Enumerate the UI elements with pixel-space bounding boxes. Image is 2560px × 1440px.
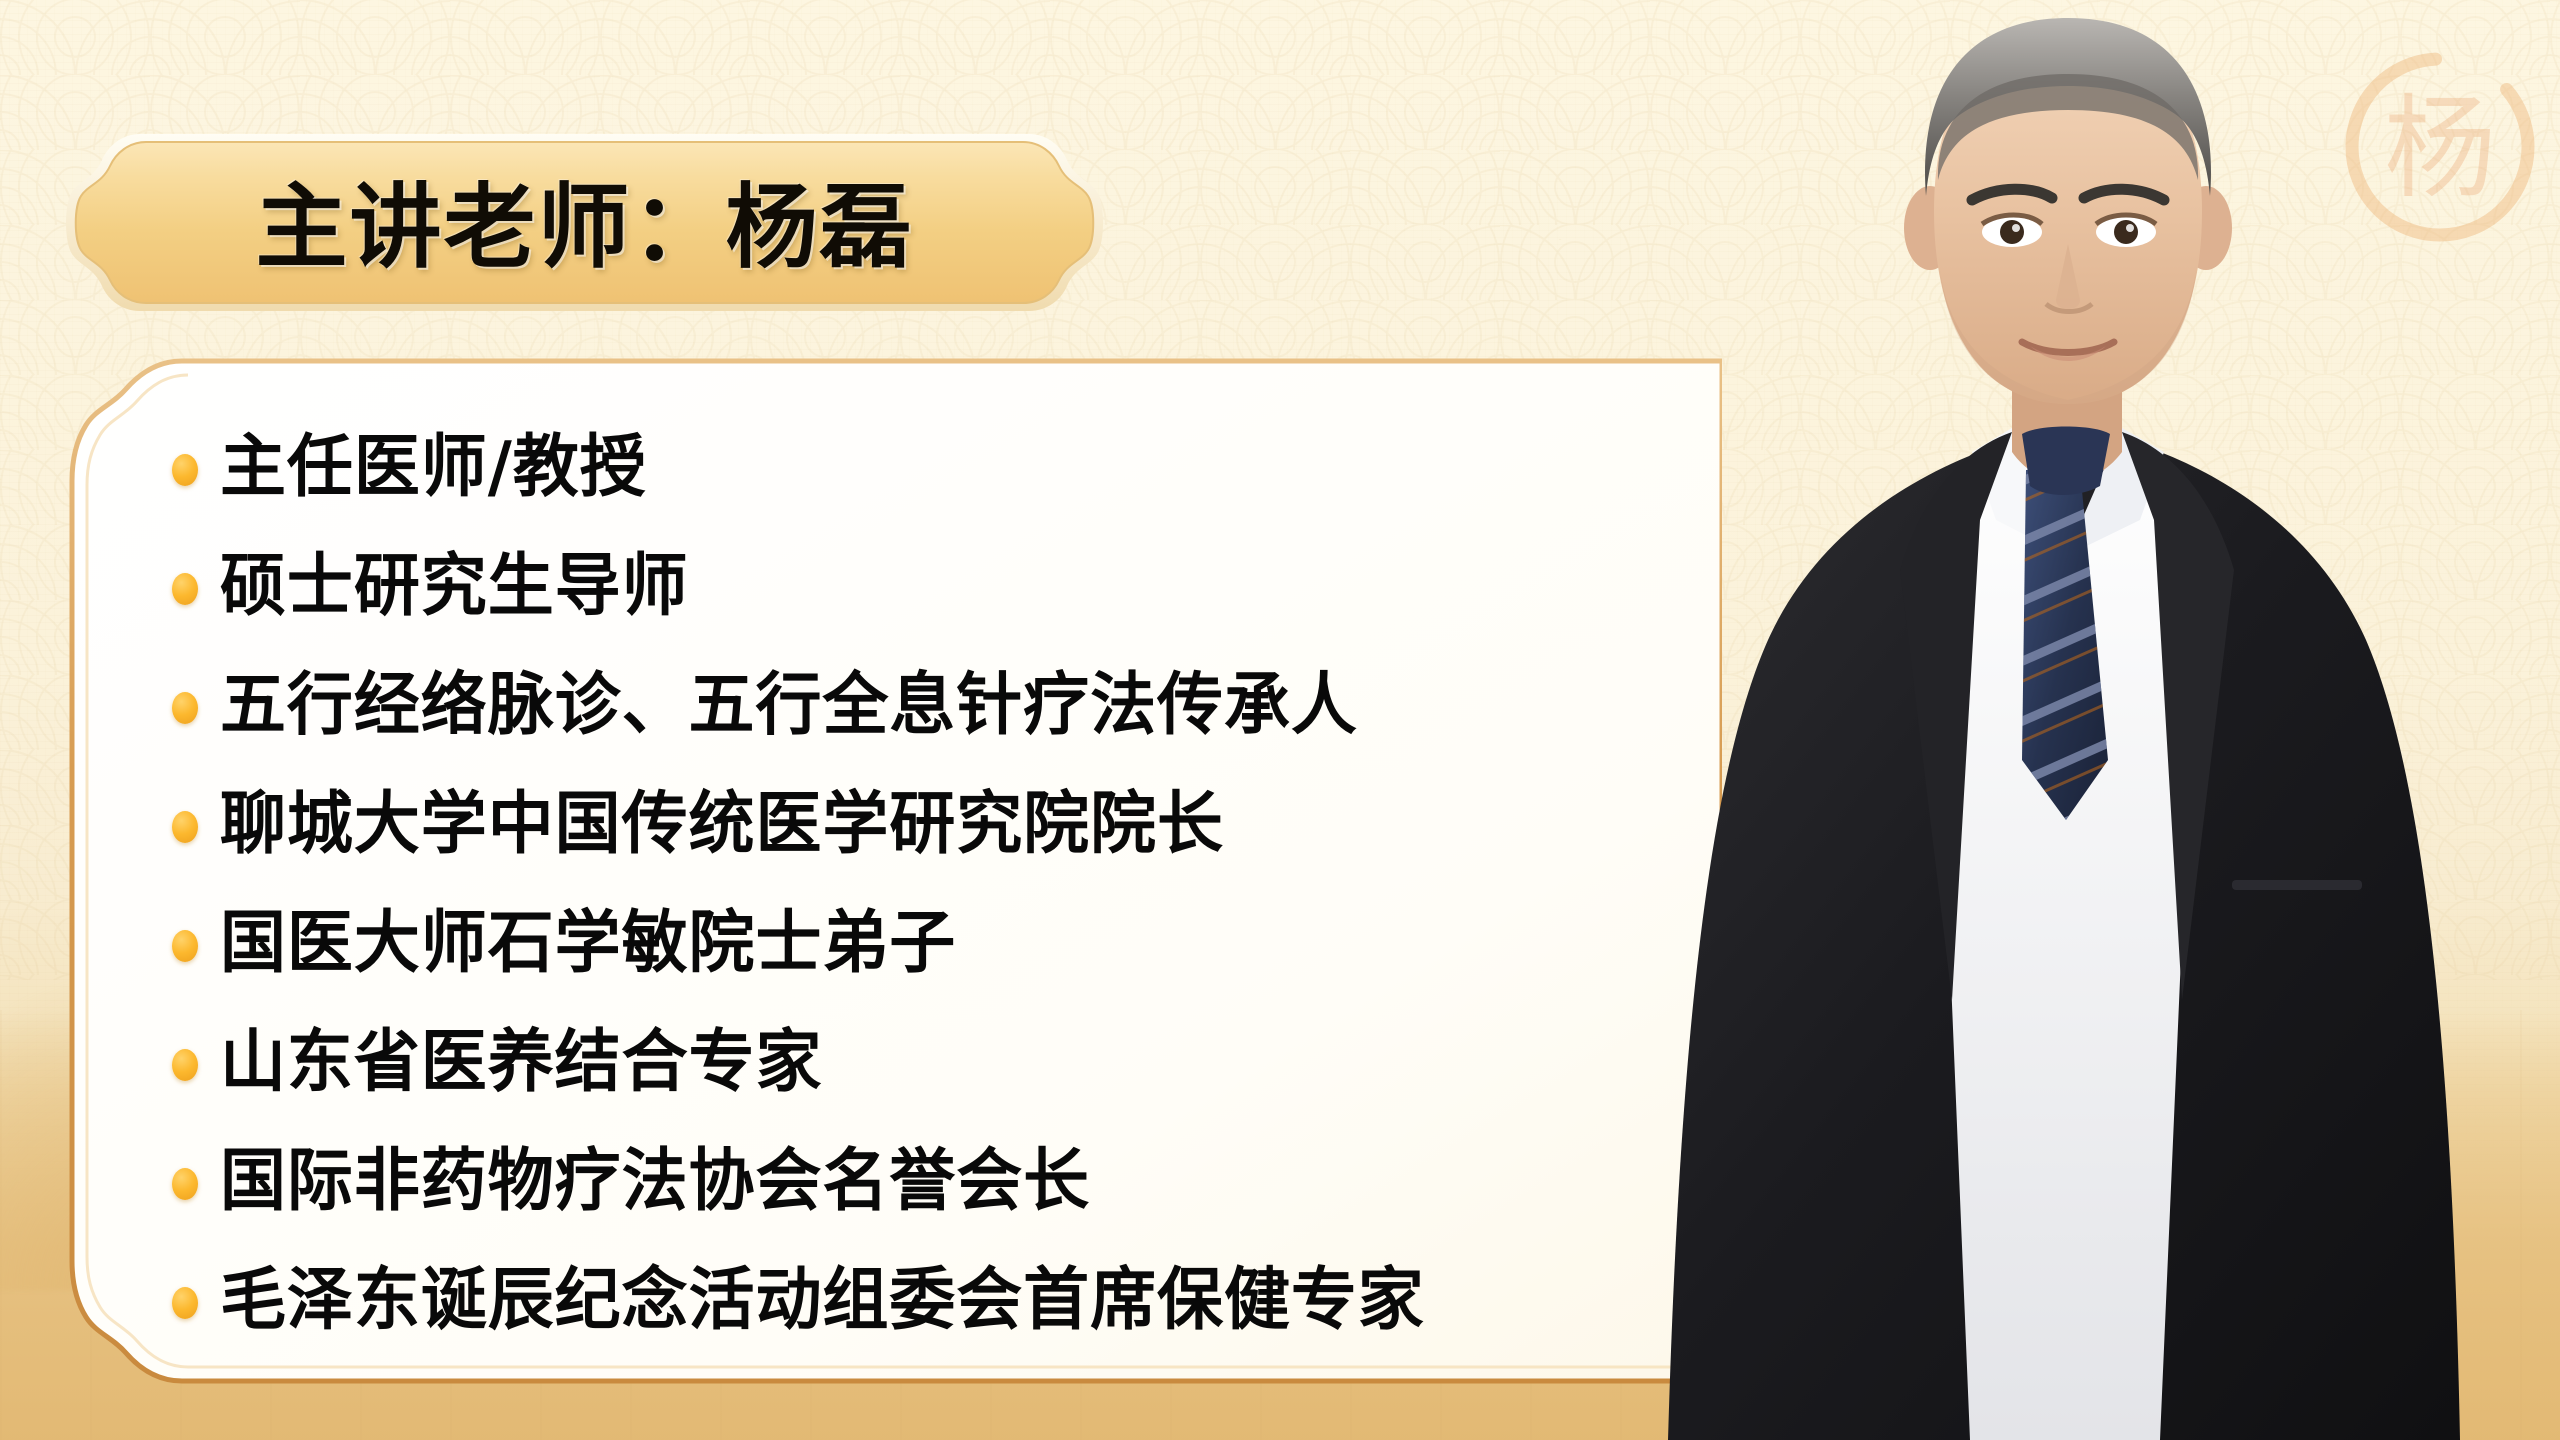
credential-text: 国际非药物疗法协会名誉会长 — [220, 1147, 1090, 1215]
bullet-dot-icon — [172, 1287, 198, 1319]
title-plaque: 主讲老师：杨磊 — [62, 130, 1107, 315]
list-item: 硕士研究生导师 — [172, 526, 1722, 645]
portrait-illustration — [1560, 0, 2560, 1440]
credential-text: 毛泽东诞辰纪念活动组委会首席保健专家 — [220, 1266, 1425, 1334]
slide-canvas: 杨 主讲老师：杨磊 — [0, 0, 2560, 1440]
page-title: 主讲老师：杨磊 — [62, 130, 1107, 315]
list-item: 毛泽东诞辰纪念活动组委会首席保健专家 — [172, 1240, 1722, 1359]
credential-text: 硕士研究生导师 — [220, 552, 689, 620]
list-item: 国际非药物疗法协会名誉会长 — [172, 1121, 1722, 1240]
credentials-list-container: 主任医师/教授 硕士研究生导师 五行经络脉诊、五行全息针疗法传承人 聊城大学中国… — [96, 373, 1722, 1371]
list-item: 主任医师/教授 — [172, 407, 1722, 526]
bullet-dot-icon — [172, 930, 198, 962]
credentials-list: 主任医师/教授 硕士研究生导师 五行经络脉诊、五行全息针疗法传承人 聊城大学中国… — [172, 407, 1722, 1359]
list-item: 聊城大学中国传统医学研究院院长 — [172, 764, 1722, 883]
credential-text: 五行经络脉诊、五行全息针疗法传承人 — [220, 671, 1358, 739]
credentials-card: 主任医师/教授 硕士研究生导师 五行经络脉诊、五行全息针疗法传承人 聊城大学中国… — [62, 355, 1722, 1395]
credential-text: 聊城大学中国传统医学研究院院长 — [220, 790, 1224, 858]
credential-text: 山东省医养结合专家 — [220, 1028, 822, 1096]
bullet-dot-icon — [172, 1168, 198, 1200]
bullet-dot-icon — [172, 573, 198, 605]
bullet-dot-icon — [172, 811, 198, 843]
list-item: 五行经络脉诊、五行全息针疗法传承人 — [172, 645, 1722, 764]
bullet-dot-icon — [172, 1049, 198, 1081]
instructor-portrait — [1560, 0, 2560, 1440]
bullet-dot-icon — [172, 692, 198, 724]
credential-text: 国医大师石学敏院士弟子 — [220, 909, 956, 977]
tie-knot — [2022, 427, 2110, 496]
list-item: 山东省医养结合专家 — [172, 1002, 1722, 1121]
bullet-dot-icon — [172, 454, 198, 486]
credential-text: 主任医师/教授 — [220, 433, 647, 501]
list-item: 国医大师石学敏院士弟子 — [172, 883, 1722, 1002]
